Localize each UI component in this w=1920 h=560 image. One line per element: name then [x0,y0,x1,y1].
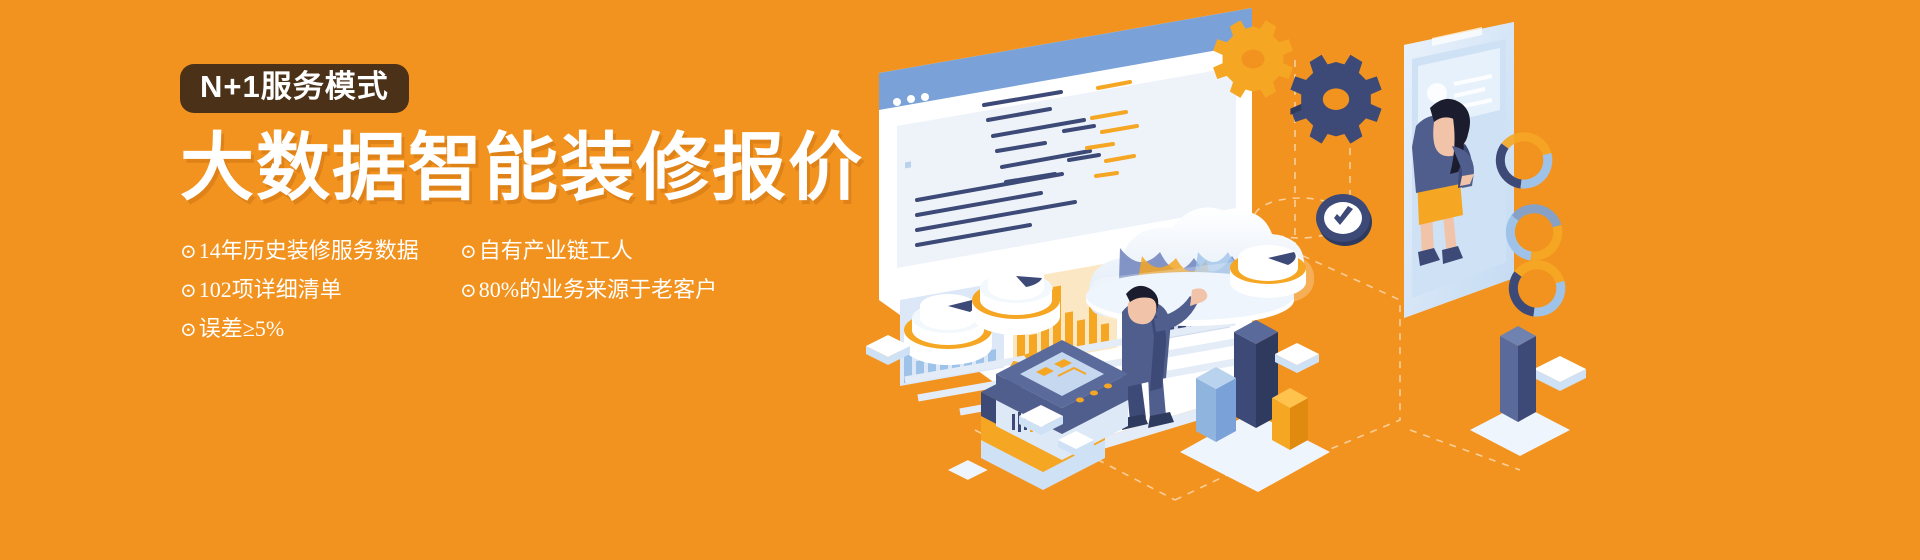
check-badge [1316,194,1372,246]
list-item: ⊙ 14年历史装修服务数据 [180,232,438,271]
service-mode-badge: N+1服务模式 [180,64,409,113]
list-item-label: 80%的业务来源于老客户 [479,279,717,301]
bar-pillar [1470,326,1570,456]
circled-dot-icon: ⊙ [460,242,477,262]
list-item-label: 误差≥5% [199,318,284,340]
banner-copy: N+1服务模式 大数据智能装修报价 ⊙ 14年历史装修服务数据 ⊙ 102项详细… [180,64,880,349]
list-item: ⊙ 80%的业务来源于老客户 [460,271,717,310]
circled-dot-icon: ⊙ [460,281,477,301]
feature-column-left: ⊙ 14年历史装修服务数据 ⊙ 102项详细清单 ⊙ 误差≥5% [180,232,438,349]
list-item: ⊙ 自有产业链工人 [460,232,717,271]
bar-pillar [948,460,988,480]
list-item: ⊙ 102项详细清单 [180,271,438,310]
feature-list: ⊙ 14年历史装修服务数据 ⊙ 102项详细清单 ⊙ 误差≥5% ⊙ 自有产业链… [180,232,880,349]
list-item-label: 自有产业链工人 [479,240,633,262]
circled-dot-icon: ⊙ [180,320,197,340]
page-title: 大数据智能装修报价 [180,129,880,207]
list-item-label: 102项详细清单 [199,279,342,301]
gear-navy [1290,55,1381,144]
circled-dot-icon: ⊙ [180,281,197,301]
bar-chart-blue [905,161,911,168]
feature-column-right: ⊙ 自有产业链工人 ⊙ 80%的业务来源于老客户 [460,232,717,349]
promo-banner: N+1服务模式 大数据智能装修报价 ⊙ 14年历史装修服务数据 ⊙ 102项详细… [0,0,1920,560]
list-item-label: 14年历史装修服务数据 [199,240,419,262]
list-item: ⊙ 误差≥5% [180,310,438,349]
circled-dot-icon: ⊙ [180,242,197,262]
